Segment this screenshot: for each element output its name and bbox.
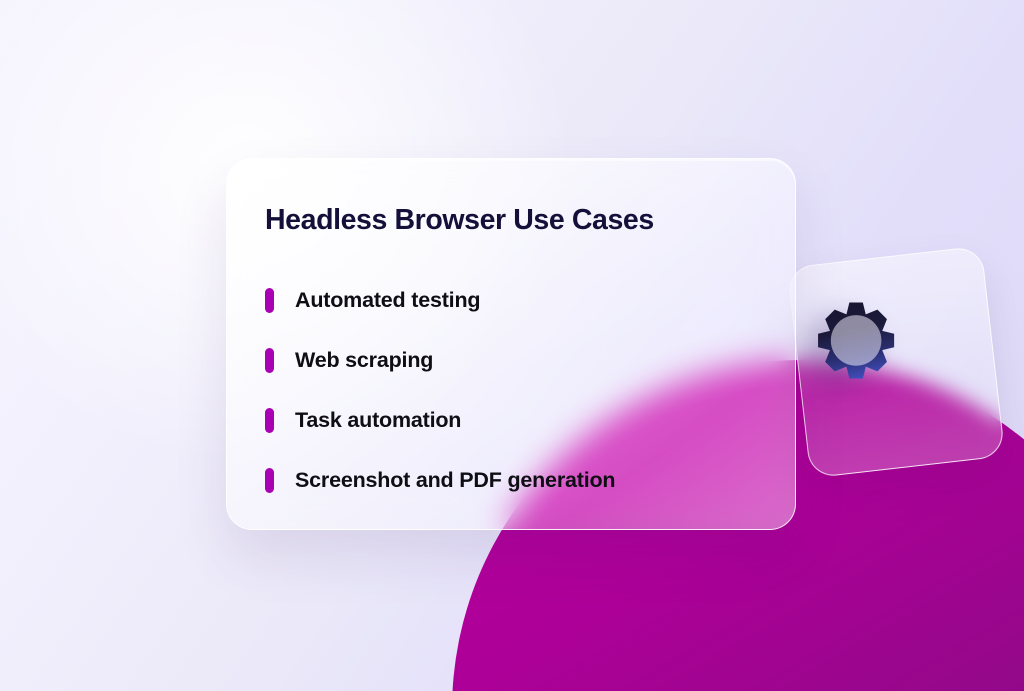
use-case-label: Automated testing (295, 290, 480, 312)
list-item: Task automation (265, 390, 755, 450)
bullet-marker-icon (265, 408, 274, 433)
poster-canvas: Headless Browser Use Cases Automated tes… (0, 0, 1024, 691)
use-case-list: Automated testing Web scraping Task auto… (265, 270, 755, 510)
bullet-marker-icon (265, 468, 274, 493)
bullet-marker-icon (265, 288, 274, 313)
list-item: Screenshot and PDF generation (265, 450, 755, 510)
use-case-label: Screenshot and PDF generation (295, 470, 615, 492)
use-case-label: Task automation (295, 410, 461, 432)
list-item: Automated testing (265, 270, 755, 330)
gear-icon (800, 282, 910, 402)
use-case-label: Web scraping (295, 350, 433, 372)
page-title: Headless Browser Use Cases (265, 205, 755, 236)
bullet-marker-icon (265, 348, 274, 373)
card-content: Headless Browser Use Cases Automated tes… (227, 159, 795, 529)
main-glass-card: Headless Browser Use Cases Automated tes… (226, 158, 796, 530)
list-item: Web scraping (265, 330, 755, 390)
